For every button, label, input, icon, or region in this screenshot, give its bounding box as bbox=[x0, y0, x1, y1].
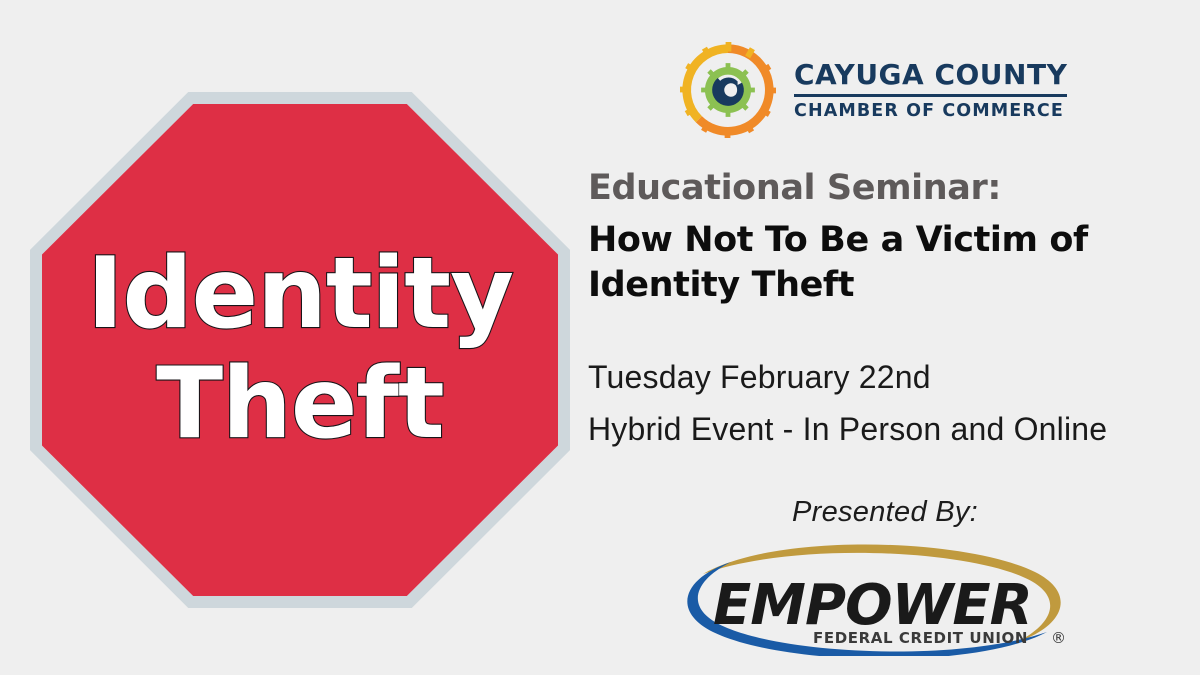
seminar-title-line-2: Identity Theft bbox=[588, 263, 1168, 308]
content-column: CAYUGA COUNTY CHAMBER OF COMMERCE Educat… bbox=[585, 0, 1185, 675]
seminar-eyebrow: Educational Seminar: bbox=[588, 168, 1001, 208]
event-date: Tuesday February 22nd bbox=[588, 352, 1178, 404]
event-format: Hybrid Event - In Person and Online bbox=[588, 404, 1178, 456]
presented-by-label: Presented By: bbox=[585, 496, 1185, 529]
chamber-name-line-1: CAYUGA COUNTY bbox=[794, 59, 1067, 91]
event-flyer: Identity Theft bbox=[0, 0, 1200, 675]
empower-federal-credit-union-logo: EMPOWER FEDERAL CREDIT UNION ® bbox=[665, 544, 1085, 656]
seminar-title-line-1: How Not To Be a Victim of bbox=[588, 218, 1168, 263]
registered-trademark-icon: ® bbox=[1051, 629, 1066, 647]
chamber-name-line-2: CHAMBER OF COMMERCE bbox=[794, 101, 1067, 121]
seminar-title: How Not To Be a Victim of Identity Theft bbox=[588, 218, 1168, 308]
event-details: Tuesday February 22nd Hybrid Event - In … bbox=[588, 352, 1178, 456]
identity-theft-stop-sign: Identity Theft bbox=[30, 92, 570, 608]
chamber-wordmark: CAYUGA COUNTY CHAMBER OF COMMERCE bbox=[794, 59, 1067, 121]
cayuga-chamber-logo: CAYUGA COUNTY CHAMBER OF COMMERCE bbox=[680, 42, 1067, 138]
chamber-divider bbox=[794, 94, 1067, 97]
chamber-gear-icon bbox=[680, 42, 776, 138]
stop-sign-line-1: Identity bbox=[87, 242, 513, 348]
empower-tagline-text: FEDERAL CREDIT UNION bbox=[813, 629, 1028, 647]
stop-sign-text: Identity Theft bbox=[30, 92, 570, 608]
stop-sign-line-2: Theft bbox=[156, 352, 444, 458]
